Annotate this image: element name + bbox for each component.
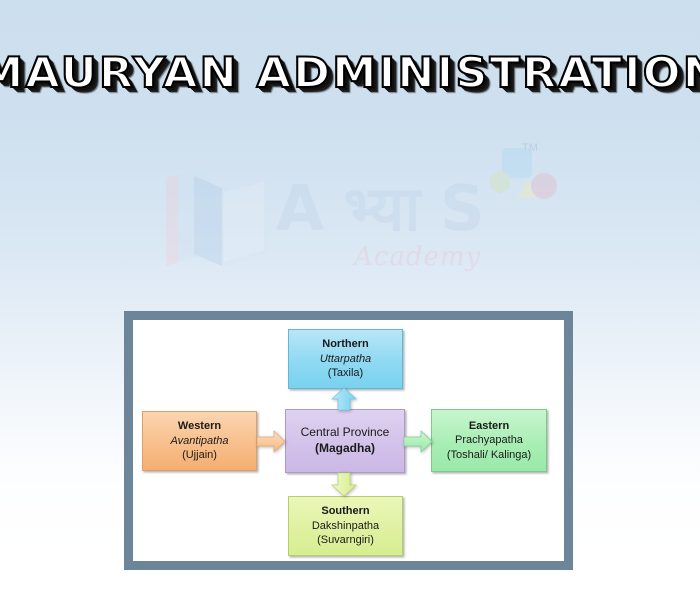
node-capital: (Magadha): [315, 441, 375, 457]
node-title: Eastern: [469, 419, 509, 434]
node-title: Northern: [322, 337, 368, 352]
watermark-brand: A भ्या S: [276, 178, 484, 240]
node-capital: (Taxila): [328, 366, 363, 381]
node-capital: (Suvarngiri): [317, 533, 374, 548]
arrow-central-to-northern-icon: [331, 387, 357, 411]
node-capital: (Toshali/ Kalinga): [447, 448, 531, 463]
node-title: Western: [178, 419, 221, 434]
page-title: MAURYAN ADMINISTRATION: [0, 52, 700, 94]
node-eastern-province[interactable]: Eastern Prachyapatha (Toshali/ Kalinga): [431, 409, 547, 472]
diagram-canvas: Northern Uttarpatha (Taxila) Western Ava…: [133, 320, 564, 561]
arrow-western-to-central-icon: [256, 430, 286, 453]
watermark-tagline: Academy: [354, 242, 481, 272]
node-central-province[interactable]: Central Province (Magadha): [285, 409, 405, 473]
node-name: Uttarpatha: [320, 352, 371, 367]
logo-shapes-icon: [476, 140, 558, 214]
node-capital: (Ujjain): [182, 448, 217, 463]
watermark-logo: A भ्या S Academy TM: [158, 140, 558, 290]
diagram-frame: Northern Uttarpatha (Taxila) Western Ava…: [124, 311, 573, 570]
open-book-icon: [164, 162, 282, 272]
node-northern-province[interactable]: Northern Uttarpatha (Taxila): [288, 329, 403, 389]
node-title: Southern: [321, 504, 369, 519]
node-name: Dakshinpatha: [312, 519, 379, 534]
node-name: Prachyapatha: [455, 433, 523, 448]
trademark-symbol: TM: [522, 142, 538, 154]
slide-canvas: MAURYAN ADMINISTRATION A भ्या S Academy …: [0, 0, 700, 600]
arrow-central-to-southern-icon: [331, 472, 357, 497]
node-southern-province[interactable]: Southern Dakshinpatha (Suvarngiri): [288, 496, 403, 556]
node-name: Avantipatha: [171, 434, 229, 449]
node-western-province[interactable]: Western Avantipatha (Ujjain): [142, 411, 257, 471]
arrow-central-to-eastern-icon: [403, 430, 433, 453]
node-title: Central Province: [301, 425, 390, 441]
